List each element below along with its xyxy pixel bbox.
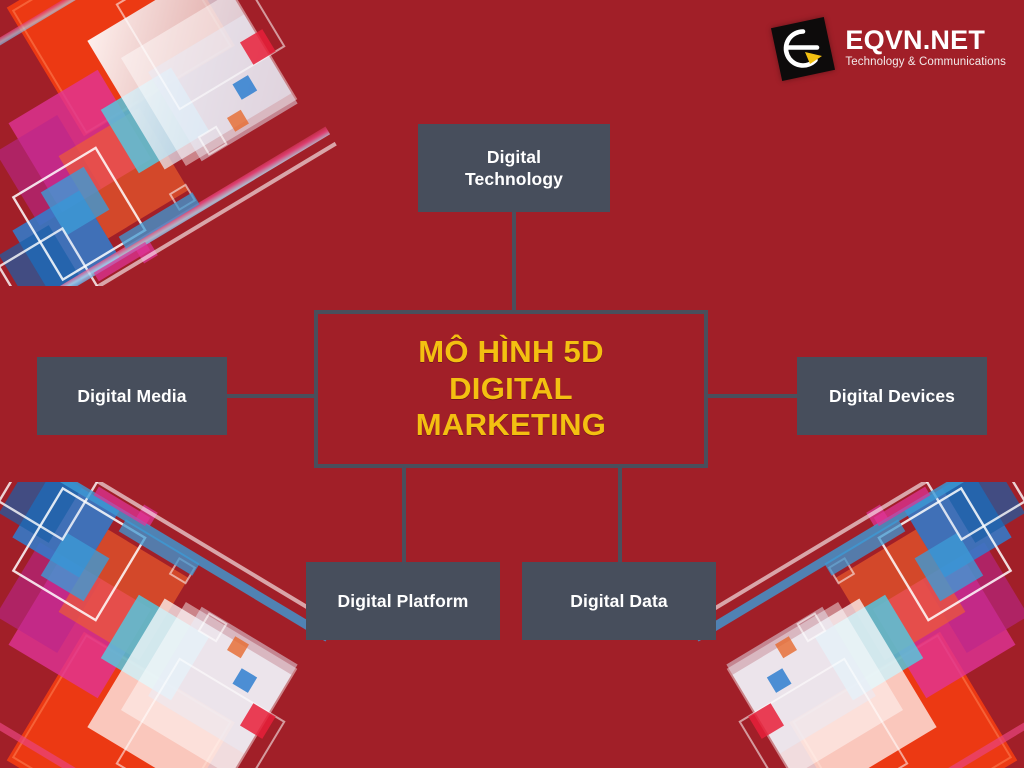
center-node-5d-digital-marketing[interactable]: MÔ HÌNH 5D DIGITAL MARKETING [314, 310, 708, 468]
connector-center-to-technology [512, 212, 516, 312]
node-label: Digital Data [570, 590, 667, 612]
eqvn-e-logo-icon [770, 16, 836, 82]
node-label: Digital Technology [465, 146, 563, 191]
center-node-line-3: MARKETING [416, 407, 606, 444]
decorative-graphic-top-left [0, 0, 412, 286]
connector-center-to-data [618, 466, 622, 564]
center-node-line-1: MÔ HÌNH 5D [416, 334, 606, 371]
node-digital-technology[interactable]: Digital Technology [418, 124, 610, 212]
node-digital-devices[interactable]: Digital Devices [797, 357, 987, 435]
node-label: Digital Media [77, 385, 186, 407]
center-node-title: MÔ HÌNH 5D DIGITAL MARKETING [416, 334, 606, 444]
brand-logo[interactable]: EQVN.NET Technology & Communications [770, 16, 1006, 82]
slide-canvas: EQVN.NET Technology & Communications MÔ … [0, 0, 1024, 768]
connector-center-to-devices [706, 394, 799, 398]
node-digital-platform[interactable]: Digital Platform [306, 562, 500, 640]
logo-subtitle: Technology & Communications [845, 57, 1006, 69]
node-label: Digital Devices [829, 385, 955, 407]
node-label: Digital Platform [338, 590, 469, 612]
node-digital-media[interactable]: Digital Media [37, 357, 227, 435]
center-node-line-2: DIGITAL [416, 371, 606, 408]
node-label-line-2: Technology [465, 168, 563, 190]
logo-title: EQVN.NET [845, 27, 1006, 54]
node-label-line-1: Digital [465, 146, 563, 168]
node-digital-data[interactable]: Digital Data [522, 562, 716, 640]
connector-center-to-platform [402, 466, 406, 564]
connector-center-to-media [227, 394, 316, 398]
